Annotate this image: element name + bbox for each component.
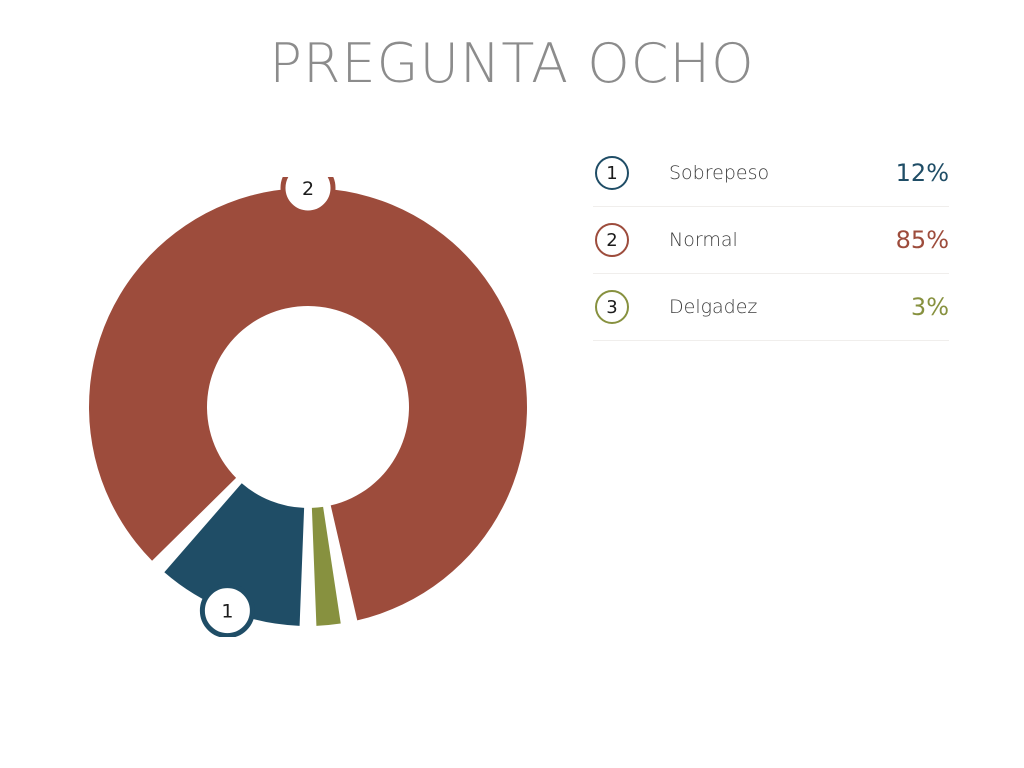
donut-marker-label-1: 1 xyxy=(221,601,233,623)
legend-value: 12% xyxy=(896,159,949,187)
donut-chart-svg: 21 xyxy=(78,177,538,637)
legend-index-badge: 3 xyxy=(595,290,629,324)
donut-chart: 21 xyxy=(78,177,538,637)
legend-index-badge: 1 xyxy=(595,156,629,190)
legend-value: 3% xyxy=(911,293,949,321)
slide-canvas: PREGUNTA OCHO 21 1Sobrepeso12%2Normal85%… xyxy=(0,0,1024,768)
legend-row[interactable]: 1Sobrepeso12% xyxy=(593,140,949,207)
donut-slice-normal[interactable] xyxy=(89,188,527,620)
legend-index-badge: 2 xyxy=(595,223,629,257)
legend-row[interactable]: 3Delgadez3% xyxy=(593,274,949,341)
donut-marker-label-2: 2 xyxy=(302,178,314,200)
legend-label: Delgadez xyxy=(669,296,911,318)
page-title: PREGUNTA OCHO xyxy=(0,32,1024,95)
legend-label: Normal xyxy=(669,229,896,251)
donut-slice-group xyxy=(89,188,527,626)
legend-row[interactable]: 2Normal85% xyxy=(593,207,949,274)
chart-legend: 1Sobrepeso12%2Normal85%3Delgadez3% xyxy=(593,140,949,341)
legend-value: 85% xyxy=(896,226,949,254)
legend-label: Sobrepeso xyxy=(669,162,896,184)
